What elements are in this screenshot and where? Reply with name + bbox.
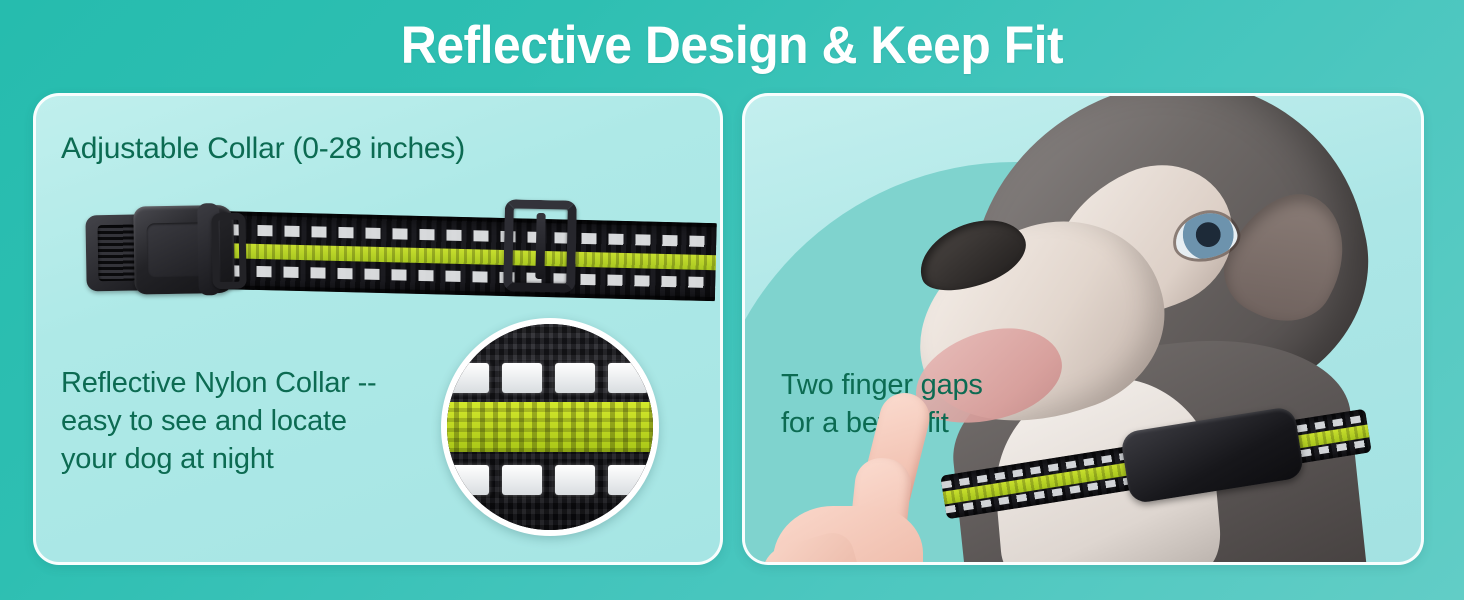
side-release-buckle-icon	[85, 197, 247, 304]
reflective-block	[555, 465, 595, 495]
lime-stripe	[176, 242, 716, 270]
caption-line-1: Reflective Nylon Collar --	[61, 364, 377, 402]
adjustable-collar-panel: Adjustable Collar (0-28 inches) Reflecti…	[33, 93, 723, 565]
magnified-lime-stripe	[441, 402, 659, 452]
buckle-webbing-slot	[211, 213, 246, 290]
hand-two-fingers	[751, 402, 1001, 565]
caption-line-3: your dog at night	[61, 440, 377, 478]
reflective-block	[502, 465, 542, 495]
reflective-block	[555, 363, 595, 393]
adjustable-collar-heading: Adjustable Collar (0-28 inches)	[61, 132, 465, 166]
slider-center-bar	[535, 213, 545, 279]
nylon-webbing	[175, 210, 717, 301]
reflective-nylon-caption: Reflective Nylon Collar -- easy to see a…	[61, 364, 377, 478]
weave-magnifier-inset	[441, 318, 659, 536]
reflective-block	[608, 465, 648, 495]
webbing-edge-bottom	[175, 284, 715, 301]
caption-line-2: easy to see and locate	[61, 402, 377, 440]
reflective-block-row-bottom	[441, 460, 659, 500]
reflective-block	[608, 363, 648, 393]
two-finger-fit-panel: Two finger gaps for a better fit	[742, 93, 1424, 565]
product-infographic: Reflective Design & Keep Fit Adjustable …	[0, 0, 1464, 600]
page-title: Reflective Design & Keep Fit	[44, 8, 1420, 84]
caption-line-1: Two finger gaps	[781, 366, 983, 404]
reflective-block	[449, 363, 489, 393]
reflective-block	[502, 363, 542, 393]
reflective-block	[449, 465, 489, 495]
webbing-edge-top	[177, 210, 717, 227]
tri-glide-slider-icon	[503, 199, 577, 292]
collar-strap-illustration	[46, 184, 716, 304]
reflective-block-row-top	[441, 358, 659, 398]
